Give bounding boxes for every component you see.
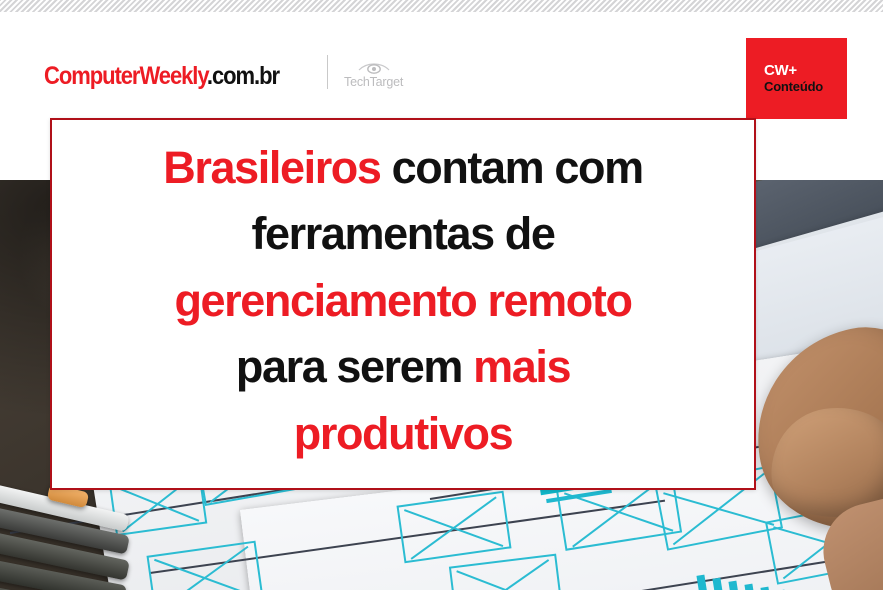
techtarget-logo[interactable]: TechTarget <box>344 61 403 90</box>
logo-divider <box>327 55 328 89</box>
computerweekly-logo[interactable]: ComputerWeekly.com.br <box>44 64 279 89</box>
headline-line: ferramentas de <box>251 201 554 268</box>
headline-segment: contam com <box>381 142 643 193</box>
eye-icon <box>357 61 391 75</box>
logo-lockup[interactable]: ComputerWeekly.com.br TechTarget <box>44 55 403 89</box>
headline-segment: ferramentas de <box>251 208 554 259</box>
headline-segment: produtivos <box>294 408 513 459</box>
techtarget-label: TechTarget <box>344 76 403 89</box>
logo-part-domain: .com.br <box>207 62 279 90</box>
hatched-strip <box>0 0 883 12</box>
cw-plus-badge[interactable]: CW+ Conteúdo <box>746 38 847 119</box>
logo-part-computer: Computer <box>44 62 139 90</box>
headline-card: Brasileiros contam com ferramentas de ge… <box>50 118 756 490</box>
headline-segment: mais <box>473 341 570 392</box>
headline-line: gerenciamento remoto <box>174 268 631 335</box>
headline-segment: gerenciamento remoto <box>174 275 631 326</box>
headline-line: Brasileiros contam com <box>163 135 642 202</box>
headline-segment: Brasileiros <box>163 142 380 193</box>
cw-plus-label: CW+ <box>764 62 847 79</box>
logo-part-weekly: Weekly <box>139 62 206 90</box>
headline-segment: para serem <box>236 341 473 392</box>
promo-banner: ComputerWeekly.com.br TechTarget CW+ Con… <box>0 0 883 590</box>
cw-plus-sublabel: Conteúdo <box>764 80 847 95</box>
headline-line: produtivos <box>294 401 513 468</box>
headline-line: para serem mais <box>236 334 570 401</box>
